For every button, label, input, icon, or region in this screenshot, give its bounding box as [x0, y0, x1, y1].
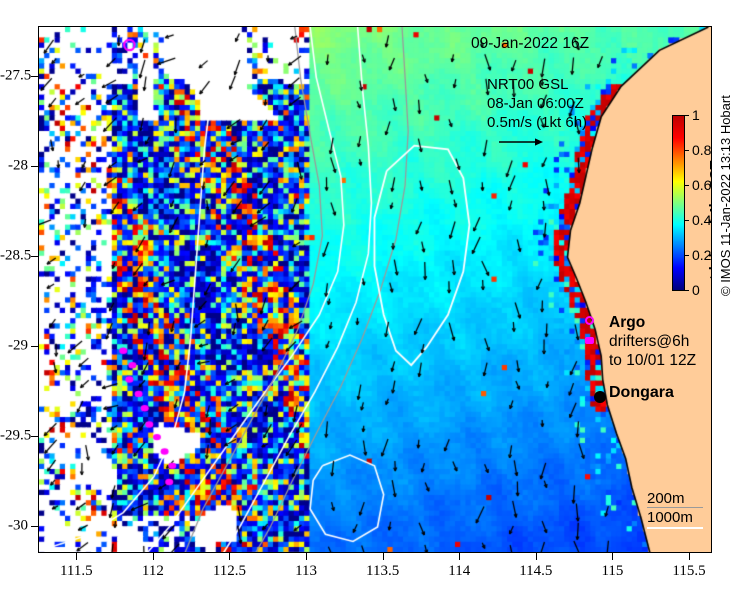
x-axis-tick — [536, 553, 537, 560]
legend-drifters-label: drifters@6h — [609, 332, 696, 351]
x-axis-tick — [689, 553, 690, 560]
gsl-line-3: 0.5m/s (1kt 6h) — [487, 113, 587, 132]
y-axis-tick-label: -27.5 — [0, 68, 28, 85]
gsl-line-2: 08-Jan 06:00Z — [487, 94, 587, 113]
x-axis-tick-label: 111.5 — [60, 563, 93, 580]
gsl-info-block: NRT00 GSL 08-Jan 06:00Z 0.5m/s (1kt 6h) — [487, 75, 587, 132]
x-axis-tick-label: 114 — [448, 563, 470, 580]
colorbar-tick — [685, 150, 689, 151]
x-axis-tick-label: 115 — [601, 563, 623, 580]
legend-drifters-period: to 10/01 12Z — [609, 351, 696, 370]
drifter-marker-icon — [585, 337, 594, 344]
colorbar-tick — [685, 255, 689, 256]
y-axis-tick — [31, 166, 38, 167]
y-axis-tick-label: -28 — [0, 158, 28, 175]
map-overlays — [39, 27, 712, 553]
figure-root: 09-Jan-2022 16Z NRT00 GSL 08-Jan 06:00Z … — [0, 0, 740, 592]
y-axis-tick — [31, 436, 38, 437]
dongara-city-marker — [594, 391, 606, 403]
colorbar-gradient — [672, 115, 685, 291]
colorbar-tick-label: 1 — [692, 107, 700, 123]
x-axis-tick-label: 113 — [295, 563, 317, 580]
y-axis-tick-label: -29.5 — [0, 428, 28, 445]
velocity-scale-arrow-icon — [497, 135, 545, 149]
depth-1000m-label: 1000m — [647, 508, 693, 527]
marker-legend: Argo drifters@6h to 10/01 12Z — [609, 313, 696, 370]
date-stamp: 09-Jan-2022 16Z — [471, 35, 589, 53]
depth-contour-key: 200m 1000m — [647, 489, 693, 527]
x-axis-tick — [153, 553, 154, 560]
x-axis-tick — [459, 553, 460, 560]
gsl-line-1: NRT00 GSL — [487, 75, 587, 94]
colorbar-tick — [685, 115, 689, 116]
colorbar-title: std dev of 4hr SST comp — [708, 118, 712, 288]
y-axis-tick — [31, 256, 38, 257]
x-axis-tick-label: 113.5 — [366, 563, 399, 580]
x-axis-tick — [383, 553, 384, 560]
argo-marker-icon — [585, 316, 594, 325]
colorbar-tick — [685, 290, 689, 291]
y-axis-tick — [31, 526, 38, 527]
dongara-label: Dongara — [609, 384, 674, 402]
colorbar-tick — [685, 220, 689, 221]
y-axis-tick — [31, 76, 38, 77]
y-axis-tick-label: -29 — [0, 338, 28, 355]
depth-200m-line — [647, 507, 703, 508]
x-axis-tick — [229, 553, 230, 560]
legend-argo-label: Argo — [609, 313, 696, 332]
x-axis-tick-label: 115.5 — [672, 563, 705, 580]
x-axis-tick — [76, 553, 77, 560]
x-axis-tick — [306, 553, 307, 560]
x-axis-tick — [612, 553, 613, 560]
y-axis-tick-label: -28.5 — [0, 248, 28, 265]
x-axis-tick-label: 112 — [142, 563, 164, 580]
map-plot-area[interactable]: 09-Jan-2022 16Z NRT00 GSL 08-Jan 06:00Z … — [38, 26, 712, 553]
depth-200m-label: 200m — [647, 489, 693, 508]
colorbar-tick-label: 0 — [692, 282, 700, 298]
colorbar-tick — [685, 185, 689, 186]
x-axis-tick-label: 112.5 — [213, 563, 246, 580]
copyright-notice: © IMOS 11-Jan-2022 13:13 Hobart — [718, 95, 733, 296]
y-axis-tick-label: -30 — [0, 518, 28, 535]
x-axis-tick-label: 114.5 — [519, 563, 552, 580]
depth-1000m-line — [647, 527, 703, 529]
y-axis-tick — [31, 346, 38, 347]
